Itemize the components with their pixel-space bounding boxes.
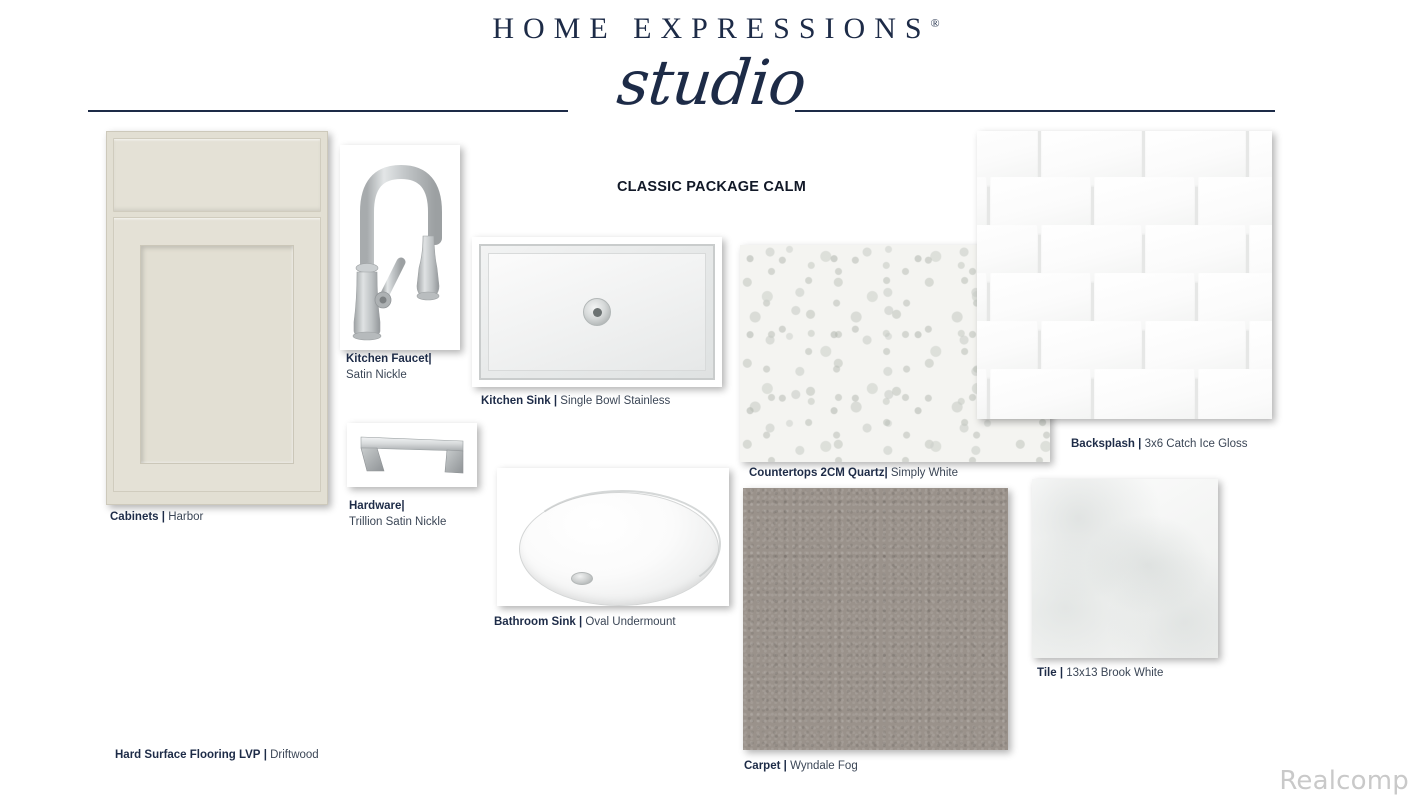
hardware-label-value: Trillion Satin Nickle	[349, 516, 446, 528]
carpet-label-value: Wyndale Fog	[790, 760, 858, 772]
tile-label: Tile | 13x13 Brook White	[1037, 666, 1163, 682]
cabinets-swatch[interactable]	[106, 131, 328, 505]
subway-tile	[977, 369, 987, 419]
hardware-swatch[interactable]	[347, 423, 477, 487]
kitchen-faucet-label: Kitchen Faucet| Satin Nickle	[346, 352, 486, 383]
bathroom-sink-swatch[interactable]	[497, 468, 729, 606]
tile-swatch[interactable]	[1032, 479, 1218, 658]
cabinets-label-separator: |	[162, 511, 165, 523]
carpet-label-separator: |	[784, 760, 787, 772]
backsplash-label-separator: |	[1138, 438, 1141, 450]
tile-label-name: Tile	[1037, 667, 1057, 679]
cabinet-pull-icon	[353, 429, 471, 481]
bathroom-sink-drain-icon	[571, 572, 593, 585]
bathroom-sink-label: Bathroom Sink | Oval Undermount	[494, 615, 676, 631]
registered-mark-icon: ®	[931, 16, 940, 30]
countertops-label: Countertops 2CM Quartz| Simply White	[749, 466, 958, 482]
kitchen-sink-swatch[interactable]	[472, 237, 722, 387]
bathroom-sink-label-name: Bathroom Sink	[494, 616, 576, 628]
cabinet-recessed-panel	[140, 245, 294, 464]
carpet-swatch[interactable]	[743, 488, 1008, 750]
hardware-label-name: Hardware|	[349, 500, 405, 512]
kitchen-sink-basin	[479, 244, 715, 380]
backsplash-label-name: Backsplash	[1071, 438, 1135, 450]
kitchen-sink-label-separator: |	[554, 395, 557, 407]
tile-label-value: 13x13 Brook White	[1066, 667, 1163, 679]
subway-tile	[1094, 369, 1195, 419]
kitchen-sink-drain-icon	[583, 298, 611, 326]
kitchen-faucet-label-value: Satin Nickle	[346, 369, 407, 381]
cabinets-label-value: Harbor	[168, 511, 203, 523]
subway-tile	[990, 369, 1091, 419]
flooring-label: Hard Surface Flooring LVP | Driftwood	[115, 748, 319, 764]
subway-tile-row	[977, 369, 1272, 419]
flooring-label-separator: |	[264, 749, 267, 761]
brand-name: HOME EXPRESSIONS®	[0, 14, 1423, 44]
backsplash-label: Backsplash | 3x6 Catch Ice Gloss	[1071, 437, 1247, 453]
subway-tile	[1198, 369, 1272, 419]
backsplash-swatch[interactable]	[977, 131, 1272, 419]
countertops-label-name: Countertops 2CM Quartz|	[749, 467, 888, 479]
countertops-label-value: Simply White	[891, 467, 958, 479]
cabinets-label-name: Cabinets	[110, 511, 159, 523]
header-rule-right	[795, 110, 1275, 112]
backsplash-label-value: 3x6 Catch Ice Gloss	[1145, 438, 1248, 450]
realcomp-watermark: Realcomp	[1279, 766, 1409, 796]
bathroom-sink-label-separator: |	[579, 616, 582, 628]
kitchen-faucet-icon	[345, 150, 455, 345]
hardware-label: Hardware| Trillion Satin Nickle	[349, 499, 509, 530]
flooring-label-value: Driftwood	[270, 749, 319, 761]
header-rule-left	[88, 110, 568, 112]
tile-label-separator: |	[1060, 667, 1063, 679]
bathroom-sink-label-value: Oval Undermount	[585, 616, 675, 628]
flooring-label-name: Hard Surface Flooring LVP	[115, 749, 260, 761]
kitchen-faucet-label-name: Kitchen Faucet|	[346, 353, 432, 365]
cabinet-drawer-front	[113, 138, 321, 212]
kitchen-sink-label: Kitchen Sink | Single Bowl Stainless	[481, 394, 670, 410]
design-board: HOME EXPRESSIONS® studio CLASSIC PACKAGE…	[0, 0, 1423, 802]
kitchen-sink-label-value: Single Bowl Stainless	[560, 395, 670, 407]
kitchen-faucet-swatch[interactable]	[340, 145, 460, 350]
carpet-label-name: Carpet	[744, 760, 780, 772]
brand-name-text: HOME EXPRESSIONS	[492, 12, 930, 45]
cabinets-label: Cabinets | Harbor	[110, 510, 203, 526]
bathroom-sink-rim	[523, 490, 721, 598]
carpet-label: Carpet | Wyndale Fog	[744, 759, 858, 775]
cabinet-door-front	[113, 217, 321, 492]
kitchen-sink-label-name: Kitchen Sink	[481, 395, 551, 407]
brand-header: HOME EXPRESSIONS®	[0, 14, 1423, 44]
